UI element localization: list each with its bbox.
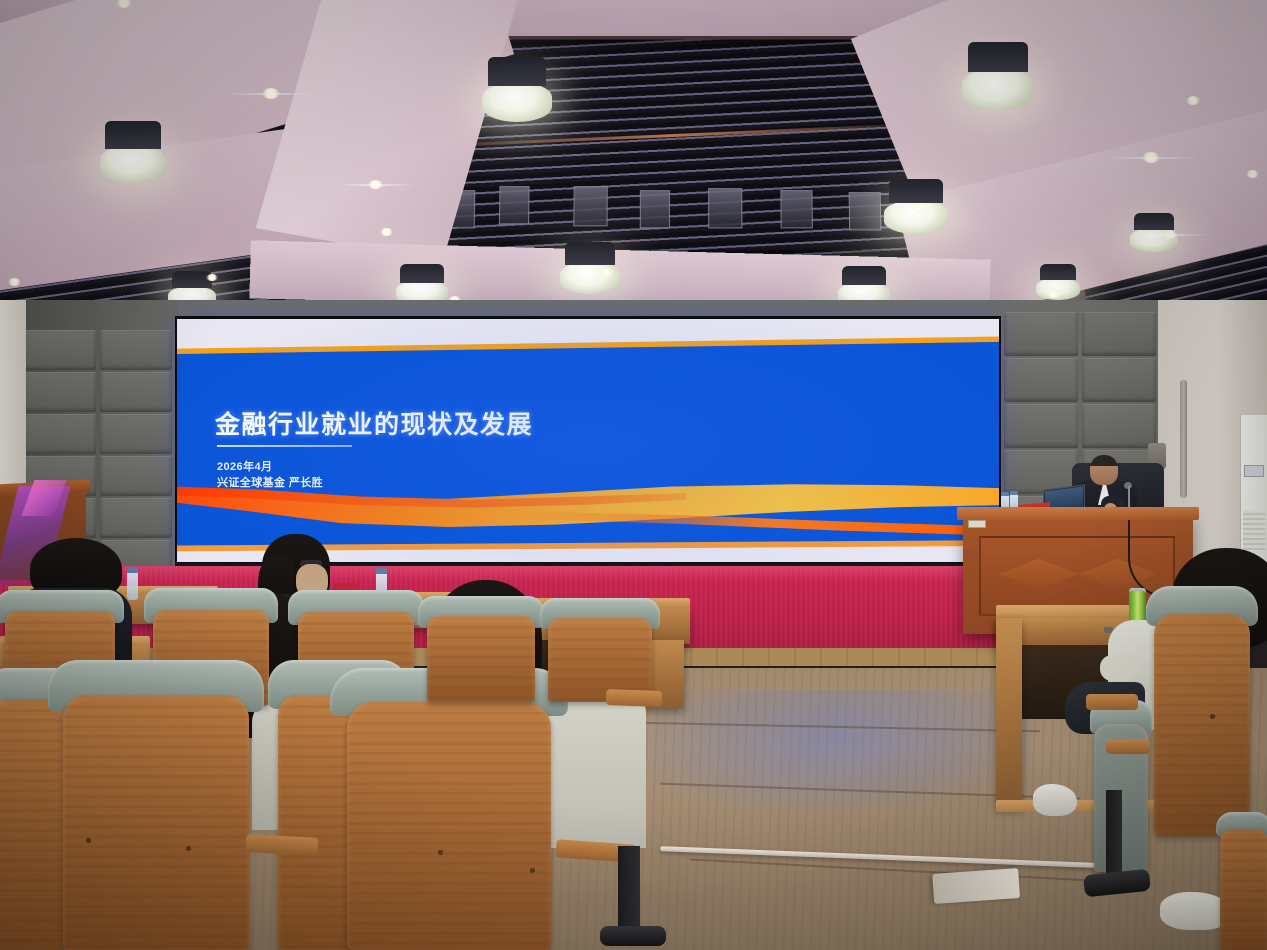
seat-backrest [1220,829,1267,950]
projection-screen[interactable]: 金融行业就业的现状及发展 2026年4月 兴证全球基金 严长胜 [175,316,1001,565]
recessed-downlight [912,204,925,212]
ceiling-diffuser [499,186,530,224]
acoustic-wall-panel [1004,404,1078,448]
cylinder-pendant-lamp [100,145,166,183]
auditorium-seat[interactable] [1216,812,1267,950]
seat-armrest [606,689,663,707]
recessed-downlight [1246,170,1259,178]
auditorium-seat[interactable] [1146,586,1258,836]
light-flare [228,93,316,95]
ceiling-diffuser [849,192,882,230]
podium-plaque [968,520,986,528]
acoustic-wall-panel [100,498,172,538]
ceiling-diffuser [640,190,670,228]
recessed-downlight [1046,290,1061,298]
ceiling [0,0,1267,322]
acoustic-wall-panel [1082,404,1156,448]
floor-light-reflection [627,690,1043,810]
seat-screw [1210,714,1215,719]
water-bottle [127,572,138,600]
ceiling-diffuser [708,188,742,228]
light-flare [336,184,416,186]
seat-screw [186,846,191,851]
acoustic-wall-panel [1082,312,1156,356]
ceiling-diffuser [573,186,607,226]
acoustic-wall-panel [100,456,172,496]
water-bottle-cap [1001,492,1009,496]
recessed-downlight [1186,96,1200,105]
seat-screw [438,850,443,855]
recessed-downlight [380,228,393,236]
air-conditioner-vent [1244,465,1264,477]
recessed-downlight [8,278,21,286]
seat-screw [530,868,535,873]
acoustic-wall-panel [1004,312,1078,356]
acoustic-wall-panel [1082,358,1156,402]
door-seam [1180,380,1187,498]
slide-author: 兴证全球基金 严长胜 [217,474,323,490]
audience-person-shoe [1033,784,1077,816]
slide-title: 金融行业就业的现状及发展 [215,405,533,441]
acoustic-wall-panel [100,414,172,454]
water-bottle-cap [1010,491,1018,495]
auditorium-seat[interactable] [48,660,264,950]
seat-floor-base [600,926,666,946]
slide-date: 2026年4月 [217,458,272,474]
auditorium-seat[interactable] [418,596,544,702]
seat-backrest [427,616,535,702]
light-flare [1108,157,1196,159]
stage-carpet-highlight [0,566,1010,582]
seat-pedestal [1106,790,1122,880]
acoustic-wall-panel [100,372,172,412]
seat-pedestal [618,846,640,934]
seat-screw [86,838,91,843]
slide-divider [217,445,352,447]
auditorium-seat[interactable] [330,668,568,950]
floor-cable-branch [932,868,1020,904]
podium-top-surface [957,507,1199,520]
ceiling-diffuser [780,190,813,228]
seat-backrest [63,695,249,950]
acoustic-wall-panel [24,372,96,412]
audience-person-arm [1100,655,1138,681]
seat-armrest [1086,694,1138,710]
light-flare [1130,234,1208,236]
recessed-downlight [206,274,218,281]
speaker-head [1090,455,1118,485]
cylinder-pendant-lamp [482,82,552,122]
presentation-slide: 金融行业就业的现状及发展 2026年4月 兴证全球基金 严长胜 [177,319,999,562]
recessed-downlight [600,268,613,276]
acoustic-wall-panel [100,330,172,370]
seat-backrest [347,702,552,950]
seat-armrest [1106,740,1150,754]
auditorium-photo: 金融行业就业的现状及发展 2026年4月 兴证全球基金 严长胜 [0,0,1267,950]
acoustic-wall-panel [24,414,96,454]
water-bottle-cap [376,568,387,574]
water-bottle-cap [127,567,138,573]
acoustic-wall-panel [24,330,96,370]
seat-backrest [1154,614,1250,837]
audience-table-side-panel [996,618,1022,808]
seat-armrest [246,834,319,856]
cylinder-pendant-lamp [560,262,620,294]
cylinder-pendant-lamp [962,68,1034,110]
air-conditioner-grille [1243,510,1265,550]
acoustic-wall-panel [1004,358,1078,402]
auditorium-seat[interactable] [540,598,660,702]
